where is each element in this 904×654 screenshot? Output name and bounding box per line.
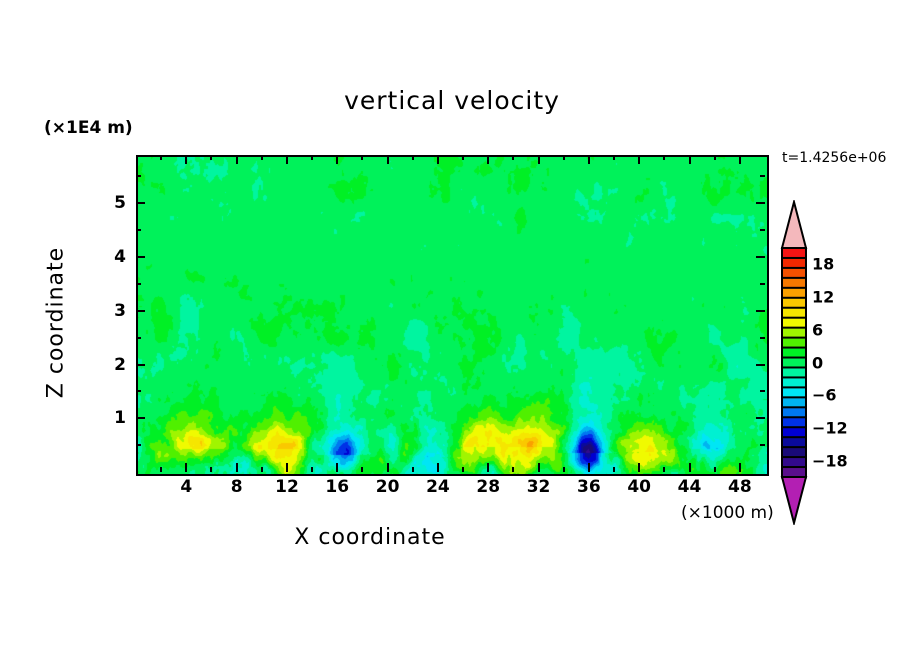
colorbar-tick-label: −18 [812, 451, 848, 470]
x-tick-label: 20 [376, 477, 400, 497]
x-axis-unit-label: (×1000 m) [681, 503, 774, 523]
y-tick-label: 5 [104, 193, 126, 213]
y-tick-label: 4 [104, 247, 126, 267]
y-axis-unit-label: (×1E4 m) [44, 118, 133, 138]
colorbar-tick-label: −12 [812, 418, 848, 437]
x-tick-label: 36 [577, 477, 601, 497]
x-tick-label: 48 [728, 477, 752, 497]
colorbar-tick-label: 12 [812, 288, 834, 307]
colorbar-tick-label: 0 [812, 353, 823, 372]
colorbar-tick-label: −6 [812, 386, 837, 405]
x-tick-label: 32 [527, 477, 551, 497]
y-tick-label: 3 [104, 301, 126, 321]
x-tick-label: 44 [678, 477, 702, 497]
colorbar [780, 200, 808, 525]
page-title: vertical velocity [0, 86, 904, 115]
x-tick-label: 4 [180, 477, 192, 497]
plot-area [136, 155, 769, 476]
time-annotation: t=1.4256e+06 [782, 150, 886, 166]
colorbar-tick-label: 6 [812, 320, 823, 339]
x-tick-label: 28 [476, 477, 500, 497]
x-tick-label: 24 [426, 477, 450, 497]
contour-field [138, 157, 767, 474]
x-axis-title: X coordinate [0, 525, 740, 550]
y-axis-title: Z coordinate [44, 223, 69, 423]
y-tick-label: 1 [104, 408, 126, 428]
x-tick-label: 16 [325, 477, 349, 497]
x-tick-label: 12 [275, 477, 299, 497]
y-tick-label: 2 [104, 355, 126, 375]
x-tick-label: 40 [627, 477, 651, 497]
colorbar-tick-label: 18 [812, 255, 834, 274]
x-tick-label: 8 [231, 477, 243, 497]
